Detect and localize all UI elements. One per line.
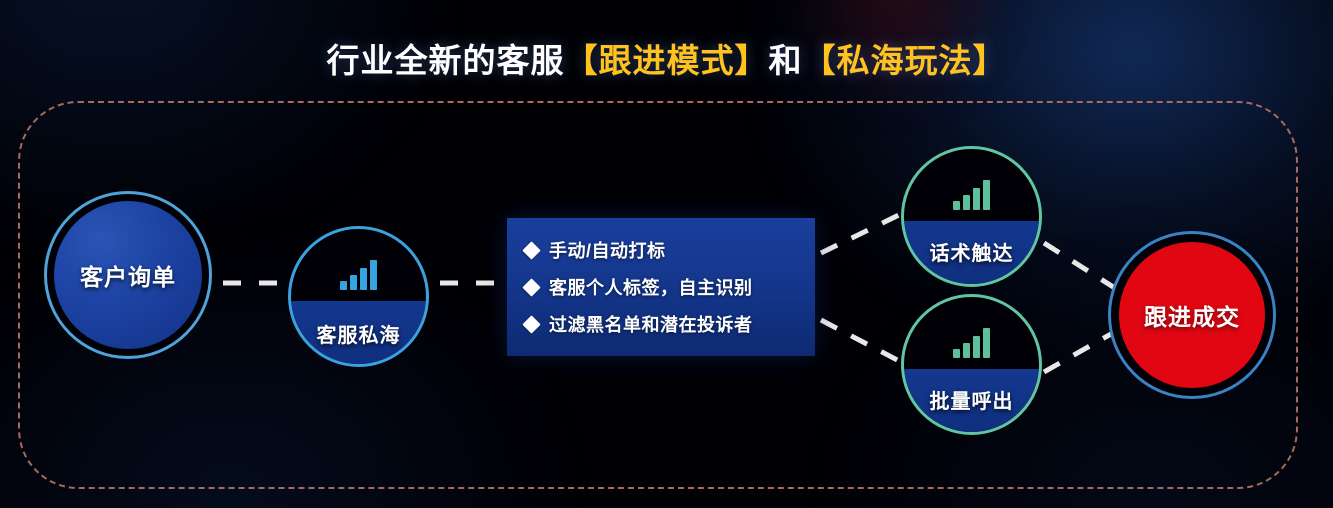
flow-node-deal[interactable]: 跟进成交 [1108,231,1276,399]
signal-bars-icon [904,324,1039,358]
flow-node-private-pool[interactable]: 客服私海 [288,226,429,367]
signal-bars-icon [291,256,426,290]
flow-node-inquiry-label: 客户询单 [80,258,176,292]
slide-canvas: 行业全新的客服【跟进模式】和【私海玩法】 客户询单 客服私海 手动/自动打标 客… [0,0,1333,508]
diamond-bullet-icon [522,278,540,296]
flow-node-private-pool-label: 客服私海 [291,319,426,348]
page-title-highlight2: 【私海玩法】 [803,42,1007,79]
signal-bars-icon [904,176,1039,210]
page-title-part1: 行业全新的客服 [327,42,565,79]
flow-node-batch-call[interactable]: 批量呼出 [901,294,1042,435]
flow-node-script-reach-label: 话术触达 [904,237,1039,266]
feature-item-label: 手动/自动打标 [549,237,666,263]
page-title-highlight1: 【跟进模式】 [565,42,769,79]
feature-item: 手动/自动打标 [525,237,815,263]
flow-node-inquiry[interactable]: 客户询单 [44,191,212,359]
flow-node-batch-call-label: 批量呼出 [904,385,1039,414]
page-title: 行业全新的客服【跟进模式】和【私海玩法】 [0,34,1333,82]
page-title-part2: 和 [769,42,803,79]
feature-item-label: 客服个人标签，自主识别 [549,274,753,300]
flow-node-script-reach[interactable]: 话术触达 [901,146,1042,287]
flow-node-deal-label: 跟进成交 [1144,298,1240,332]
feature-item: 过滤黑名单和潜在投诉者 [525,311,815,337]
diamond-bullet-icon [522,241,540,259]
feature-list-box[interactable]: 手动/自动打标 客服个人标签，自主识别 过滤黑名单和潜在投诉者 [507,218,815,356]
diamond-bullet-icon [522,315,540,333]
feature-item-label: 过滤黑名单和潜在投诉者 [549,311,753,337]
feature-item: 客服个人标签，自主识别 [525,274,815,300]
